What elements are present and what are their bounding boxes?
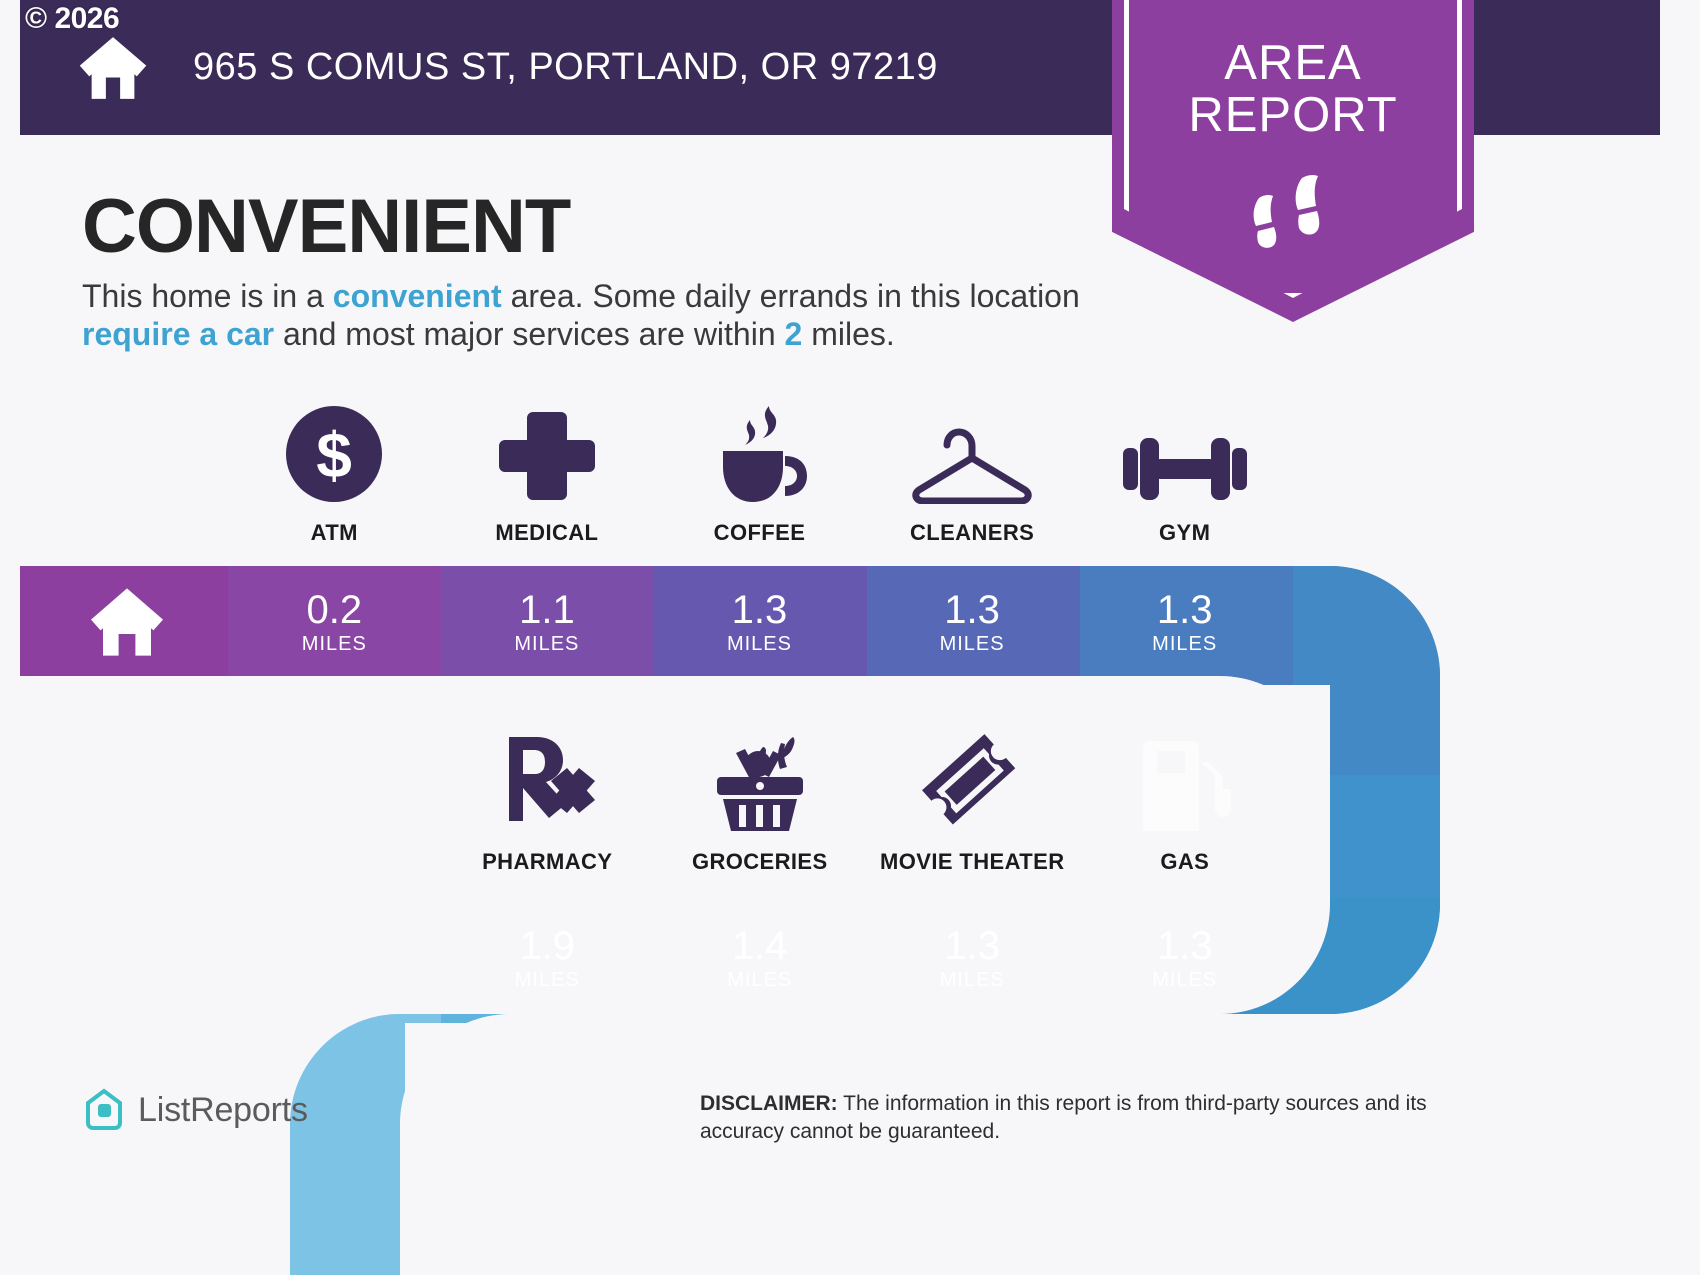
distance-unit: MILES bbox=[727, 969, 792, 992]
distance-value: 1.4 bbox=[732, 925, 788, 967]
distance-unit: MILES bbox=[940, 633, 1005, 656]
distance-pharmacy: 1.9 MILES bbox=[441, 902, 654, 1014]
home-icon bbox=[88, 586, 166, 658]
amenity-label: CLEANERS bbox=[910, 520, 1034, 546]
distance-cleaners: 1.3 MILES bbox=[866, 566, 1079, 678]
amenity-coffee: COFFEE bbox=[653, 406, 866, 546]
amenity-atm: $ ATM bbox=[228, 406, 441, 546]
amenity-pharmacy: PHARMACY bbox=[441, 735, 654, 875]
dollar-circle-icon: $ bbox=[284, 406, 384, 504]
distance-value: 1.3 bbox=[944, 589, 1000, 631]
amenity-movie-theater: MOVIE THEATER bbox=[866, 735, 1079, 875]
amenity-label: MOVIE THEATER bbox=[880, 849, 1064, 875]
distance-unit: MILES bbox=[302, 633, 367, 656]
amenity-gas: GAS bbox=[1079, 735, 1292, 875]
distance-value: 1.3 bbox=[732, 589, 788, 631]
distance-value: 1.1 bbox=[519, 589, 575, 631]
distance-gas: 1.3 MILES bbox=[1079, 902, 1292, 1014]
distance-atm: 0.2 MILES bbox=[228, 566, 441, 678]
listreports-logo[interactable]: ListReports bbox=[82, 1087, 308, 1133]
gas-pump-icon bbox=[1139, 735, 1231, 833]
rx-icon bbox=[499, 735, 595, 833]
distance-unit: MILES bbox=[515, 969, 580, 992]
amenity-label: GAS bbox=[1160, 849, 1209, 875]
distance-value: 0.2 bbox=[306, 589, 362, 631]
amenity-gym: GYM bbox=[1078, 406, 1291, 546]
distance-movie-theater: 1.3 MILES bbox=[866, 902, 1079, 1014]
distance-value-row-2: 1.9 MILES 1.4 MILES 1.3 MILES 1.3 MILES bbox=[441, 902, 1291, 1014]
listreports-logo-icon bbox=[82, 1087, 126, 1133]
disclaimer: DISCLAIMER: The information in this repo… bbox=[700, 1090, 1500, 1146]
amenity-label: MEDICAL bbox=[495, 520, 598, 546]
distance-unit: MILES bbox=[940, 969, 1005, 992]
distance-value-row-1: 0.2 MILES 1.1 MILES 1.3 MILES 1.3 MILES … bbox=[228, 566, 1291, 678]
distance-unit: MILES bbox=[1152, 633, 1217, 656]
badge-line-2: REPORT bbox=[1112, 90, 1474, 142]
distance-value: 1.3 bbox=[944, 925, 1000, 967]
bar-segment-corner-bottom bbox=[1291, 898, 1456, 1023]
amenity-medical: MEDICAL bbox=[441, 406, 654, 546]
amenity-icon-row-2: PHARMACY GROCER bbox=[441, 735, 1291, 875]
coffee-cup-icon bbox=[707, 406, 811, 504]
distance-gym: 1.3 MILES bbox=[1078, 566, 1291, 678]
footprints-icon bbox=[1247, 168, 1339, 254]
copyright-label: © 2026 bbox=[25, 2, 119, 36]
distance-unit: MILES bbox=[1152, 969, 1217, 992]
distance-value: 1.3 bbox=[1157, 589, 1213, 631]
clothes-hanger-icon bbox=[907, 406, 1037, 504]
disclaimer-label: DISCLAIMER: bbox=[700, 1092, 838, 1115]
movie-ticket-icon bbox=[920, 735, 1024, 833]
amenity-label: ATM bbox=[311, 520, 358, 546]
amenity-label: COFFEE bbox=[714, 520, 806, 546]
bar-bend-right-upper bbox=[1330, 560, 1455, 775]
amenity-icon-row-1: $ ATM MEDICAL COFFEE bbox=[228, 406, 1291, 546]
amenity-groceries: GROCERIES bbox=[654, 735, 867, 875]
amenity-label: GYM bbox=[1159, 520, 1210, 546]
amenity-label: PHARMACY bbox=[482, 849, 612, 875]
amenity-label: GROCERIES bbox=[692, 849, 828, 875]
amenity-cleaners: CLEANERS bbox=[866, 406, 1079, 546]
distance-groceries: 1.4 MILES bbox=[654, 902, 867, 1014]
distance-unit: MILES bbox=[514, 633, 579, 656]
distance-coffee: 1.3 MILES bbox=[653, 566, 866, 678]
dumbbell-icon bbox=[1123, 406, 1247, 504]
distance-value: 1.3 bbox=[1157, 925, 1213, 967]
bar-segment-corner-left bbox=[280, 898, 441, 1023]
grocery-basket-icon bbox=[705, 735, 815, 833]
distance-value: 1.9 bbox=[519, 925, 575, 967]
svg-text:$: $ bbox=[317, 419, 353, 491]
badge-title: AREA REPORT bbox=[1112, 38, 1474, 142]
distance-medical: 1.1 MILES bbox=[441, 566, 654, 678]
distance-unit: MILES bbox=[727, 633, 792, 656]
badge-line-1: AREA bbox=[1112, 38, 1474, 90]
listreports-logo-text: ListReports bbox=[138, 1091, 308, 1130]
medical-cross-icon bbox=[497, 406, 597, 504]
